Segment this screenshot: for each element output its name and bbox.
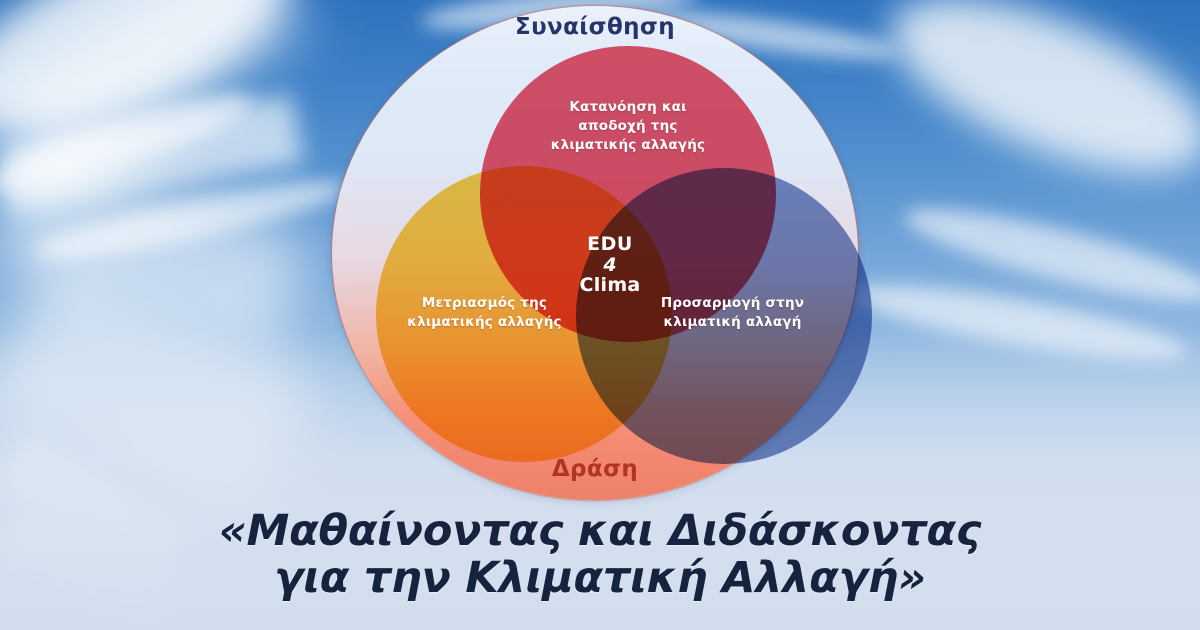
circle-label-understanding: Κατανόηση και αποδοχή της κλιματικής αλλ… <box>502 98 754 155</box>
page-title-line-2: για την Κλιματική Αλλαγή» <box>0 555 1200 602</box>
brand-line-edu: EDU <box>550 234 670 255</box>
center-brand-logo: EDU 4 Clima <box>550 234 670 296</box>
brand-line-four: 4 <box>550 255 670 276</box>
circle-label-mitigation: Μετριασμός της κλιματικής αλλαγής <box>372 294 597 332</box>
brand-line-clima: Clima <box>550 275 670 296</box>
outer-label-top: Συναίσθηση <box>332 14 858 40</box>
venn-diagram: Συναίσθηση Κατανόηση και αποδοχή της κλι… <box>332 6 858 500</box>
page-title: «Μαθαίνοντας και Διδάσκοντας για την Κλι… <box>0 508 1200 603</box>
circle-label-adaptation: Προσαρμογή στην κλιματική αλλαγή <box>620 294 845 332</box>
outer-label-bottom: Δράση <box>332 456 858 482</box>
page-title-line-1: «Μαθαίνοντας και Διδάσκοντας <box>0 508 1200 555</box>
